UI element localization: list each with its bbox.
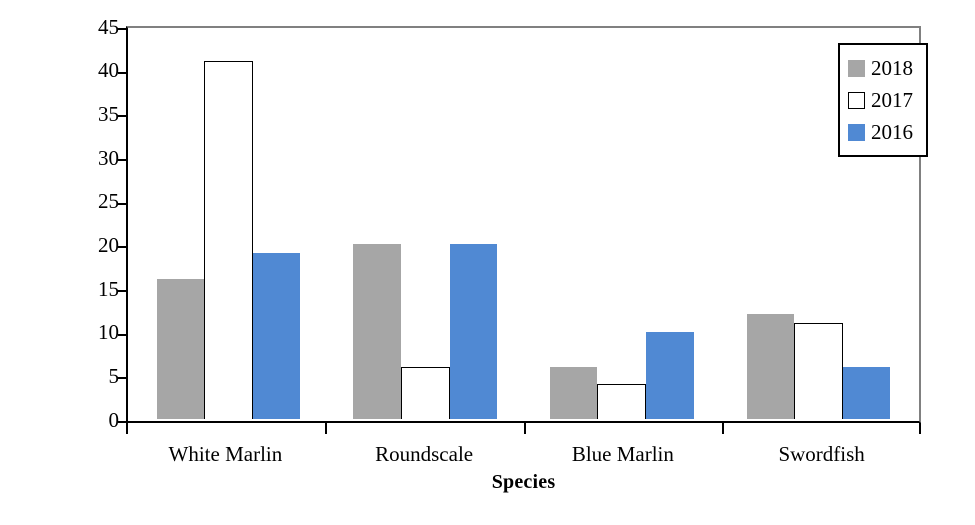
x-axis-tick-mark: [524, 423, 526, 434]
bar-group: [130, 28, 327, 419]
plot-area: [126, 26, 921, 423]
x-axis-category-labels: White MarlinRoundscaleBlue MarlinSwordfi…: [126, 437, 921, 471]
bar-2018-white-marlin[interactable]: [157, 279, 204, 419]
x-axis-tick-mark: [919, 423, 921, 434]
bar-group-bars: [157, 28, 301, 419]
y-axis-tick-label: 25: [98, 191, 126, 212]
y-axis-tick-labels: 051015202530354045: [0, 0, 126, 525]
x-axis-category-label: White Marlin: [126, 437, 325, 471]
y-axis-tick-mark: [118, 72, 126, 74]
x-axis-tick-mark: [722, 423, 724, 434]
legend-item-2017[interactable]: 2017: [848, 84, 920, 116]
y-axis-tick-label: 10: [98, 322, 126, 343]
y-axis-tick-mark: [118, 28, 126, 30]
bar-2016-swordfish[interactable]: [843, 367, 890, 419]
x-axis-category-label: Swordfish: [722, 437, 921, 471]
legend-swatch-icon: [848, 60, 865, 77]
y-axis-tick-mark: [118, 246, 126, 248]
bar-2018-swordfish[interactable]: [747, 314, 794, 419]
y-axis-tick-label: 45: [98, 17, 126, 38]
bar-groups: [130, 28, 917, 419]
y-axis-tick-label: 40: [98, 60, 126, 81]
bar-2017-white-marlin[interactable]: [204, 61, 253, 419]
bar-2017-swordfish[interactable]: [794, 323, 843, 419]
x-axis-category-label: Blue Marlin: [524, 437, 723, 471]
y-axis-tick-mark: [118, 421, 126, 423]
bar-2017-roundscale[interactable]: [401, 367, 450, 419]
legend-label: 2018: [871, 58, 913, 79]
legend-item-2018[interactable]: 2018: [848, 52, 920, 84]
bar-2018-roundscale[interactable]: [353, 244, 400, 419]
legend-label: 2016: [871, 122, 913, 143]
y-axis-tick-mark: [118, 159, 126, 161]
y-axis-tick-mark: [118, 334, 126, 336]
bar-group-bars: [353, 28, 497, 419]
y-axis-tick-mark: [118, 377, 126, 379]
bar-chart: Number of Billfish Landed 05101520253035…: [0, 0, 975, 525]
y-axis-tick-label: 20: [98, 235, 126, 256]
bar-2016-white-marlin[interactable]: [253, 253, 300, 419]
y-axis-tick-label: 30: [98, 148, 126, 169]
legend: 201820172016: [838, 43, 928, 157]
y-axis-tick-mark: [118, 290, 126, 292]
x-axis-tick-marks: [126, 423, 921, 435]
x-axis-tick-mark: [325, 423, 327, 434]
bar-2016-roundscale[interactable]: [450, 244, 497, 419]
y-axis-tick-label: 15: [98, 279, 126, 300]
y-axis-tick-mark: [118, 203, 126, 205]
x-axis-title: Species: [126, 471, 921, 494]
legend-label: 2017: [871, 90, 913, 111]
y-axis-tick-mark: [118, 115, 126, 117]
legend-swatch-icon: [848, 124, 865, 141]
y-axis-tick-label: 5: [109, 366, 127, 387]
bar-2016-blue-marlin[interactable]: [646, 332, 693, 419]
bar-group-bars: [550, 28, 694, 419]
bar-group: [524, 28, 721, 419]
x-axis-category-label: Roundscale: [325, 437, 524, 471]
legend-item-2016[interactable]: 2016: [848, 116, 920, 148]
x-axis-tick-mark: [126, 423, 128, 434]
legend-swatch-icon: [848, 92, 865, 109]
bar-2017-blue-marlin[interactable]: [597, 384, 646, 419]
bar-2018-blue-marlin[interactable]: [550, 367, 597, 419]
y-axis-tick-label: 0: [109, 410, 127, 431]
bar-group: [327, 28, 524, 419]
y-axis-tick-label: 35: [98, 104, 126, 125]
